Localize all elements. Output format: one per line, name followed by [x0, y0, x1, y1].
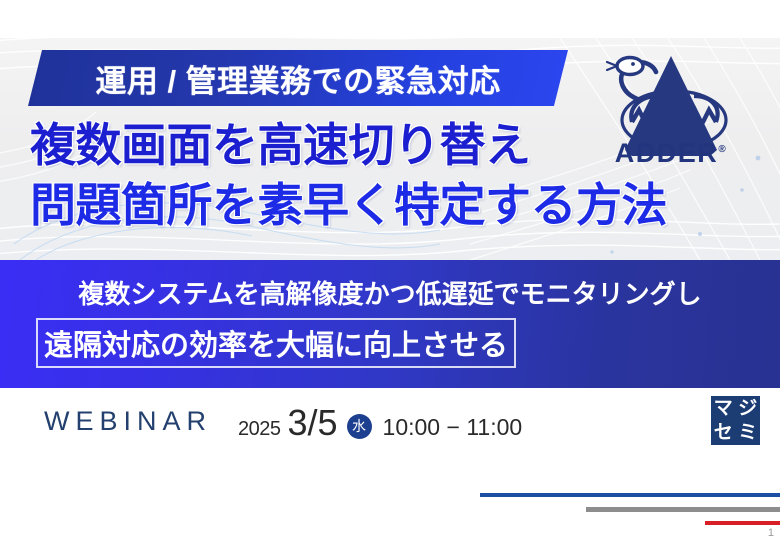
majisemi-logo: マ ジ セ ミ [711, 396, 760, 445]
majisemi-char-3: セ [714, 423, 733, 442]
adder-registered-mark: ® [718, 144, 727, 155]
decor-rule-blue [480, 493, 780, 497]
webinar-datetime: 2025 3/5 水 10:00 − 11:00 [238, 402, 522, 444]
webinar-label: WEBINAR [44, 406, 212, 437]
headline-line-2: 問題箇所を素早く特定する方法 [30, 176, 730, 236]
subtitle-highlight-box: 遠隔対応の効率を大幅に向上させる [36, 318, 516, 368]
webinar-slide: 運用 / 管理業務での緊急対応 複数画面を高速切り替え 問題箇所を素早く特定する… [0, 0, 780, 540]
majisemi-char-4: ミ [738, 423, 757, 442]
majisemi-char-2: ジ [738, 399, 757, 418]
subtitle-band: 複数システムを高解像度かつ低遅延でモニタリングし 遠隔対応の効率を大幅に向上させ… [0, 260, 780, 388]
decor-rule-gray [586, 507, 780, 512]
decor-rule-red [705, 521, 780, 525]
subtitle-line-1: 複数システムを高解像度かつ低遅延でモニタリングし [0, 274, 780, 311]
eyebrow-banner-label: 運用 / 管理業務での緊急対応 [28, 50, 568, 106]
eyebrow-banner: 運用 / 管理業務での緊急対応 [28, 50, 568, 106]
webinar-time: 10:00 − 11:00 [383, 414, 523, 441]
webinar-year: 2025 [238, 418, 281, 441]
subtitle-highlight-text: 遠隔対応の効率を大幅に向上させる [44, 322, 508, 364]
page-number: 1 [768, 527, 774, 539]
webinar-day-of-week-badge: 水 [347, 414, 372, 439]
majisemi-char-1: マ [714, 399, 733, 418]
adder-wordmark: ADDER® [592, 138, 750, 169]
webinar-month-day: 3/5 [288, 402, 338, 444]
adder-wordmark-text: ADDER [615, 138, 719, 168]
